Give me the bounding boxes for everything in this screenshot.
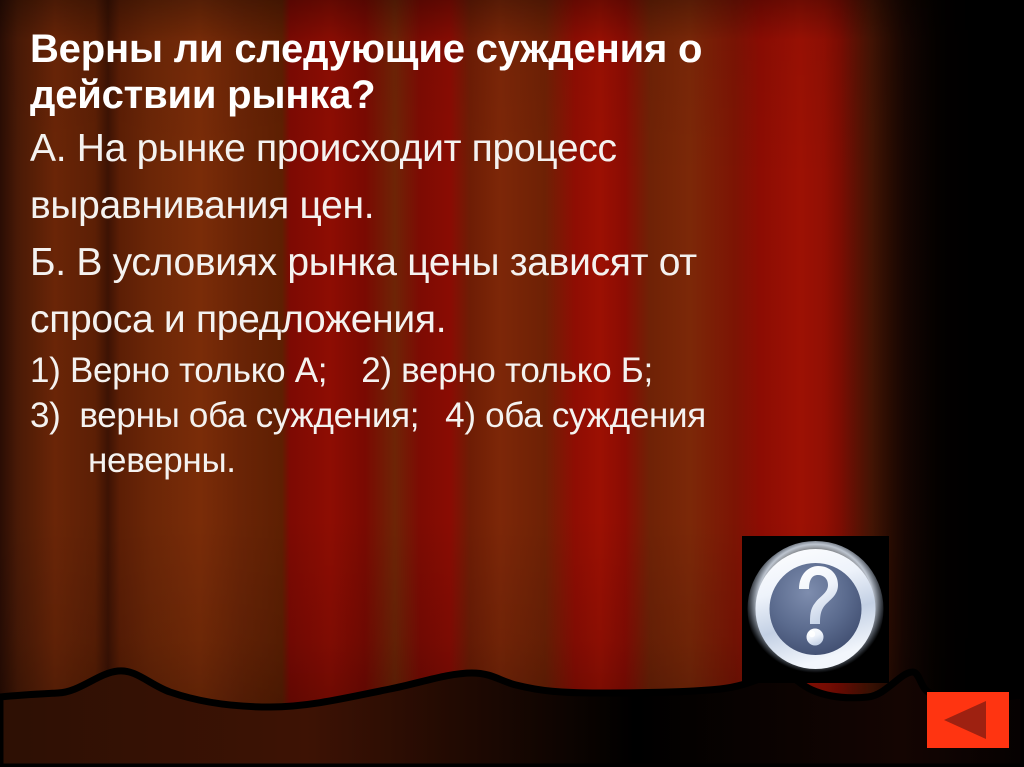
answer-row-2: 3) верны оба суждения;4) оба суждения <box>30 393 990 438</box>
answer-option-1[interactable]: 1) Верно только А; <box>30 351 327 390</box>
back-triangle-icon <box>944 701 986 739</box>
statement-a-line2: выравнивания цен. <box>30 177 990 234</box>
statement-b-line2: спроса и предложения. <box>30 291 990 348</box>
answer-option-4[interactable]: 4) оба суждения <box>445 396 706 435</box>
answer-row-1: 1) Верно только А;2) верно только Б; <box>30 348 990 393</box>
statement-a-line1: А. На рынке происходит процесс <box>30 120 990 177</box>
question-mark-icon[interactable] <box>742 536 889 683</box>
slide-canvas: Верны ли следующие суждения о действии р… <box>0 0 1024 767</box>
back-button[interactable] <box>927 692 1009 748</box>
answer-option-3[interactable]: 3) верны оба суждения; <box>30 396 419 435</box>
answer-option-2[interactable]: 2) верно только Б; <box>361 351 653 390</box>
statement-b-line1: Б. В условиях рынка цены зависят от <box>30 234 990 291</box>
question-heading: Верны ли следующие суждения о действии р… <box>30 26 710 118</box>
slide-text-block: Верны ли следующие суждения о действии р… <box>30 26 990 483</box>
answer-option-4-continuation: неверны. <box>30 438 990 483</box>
